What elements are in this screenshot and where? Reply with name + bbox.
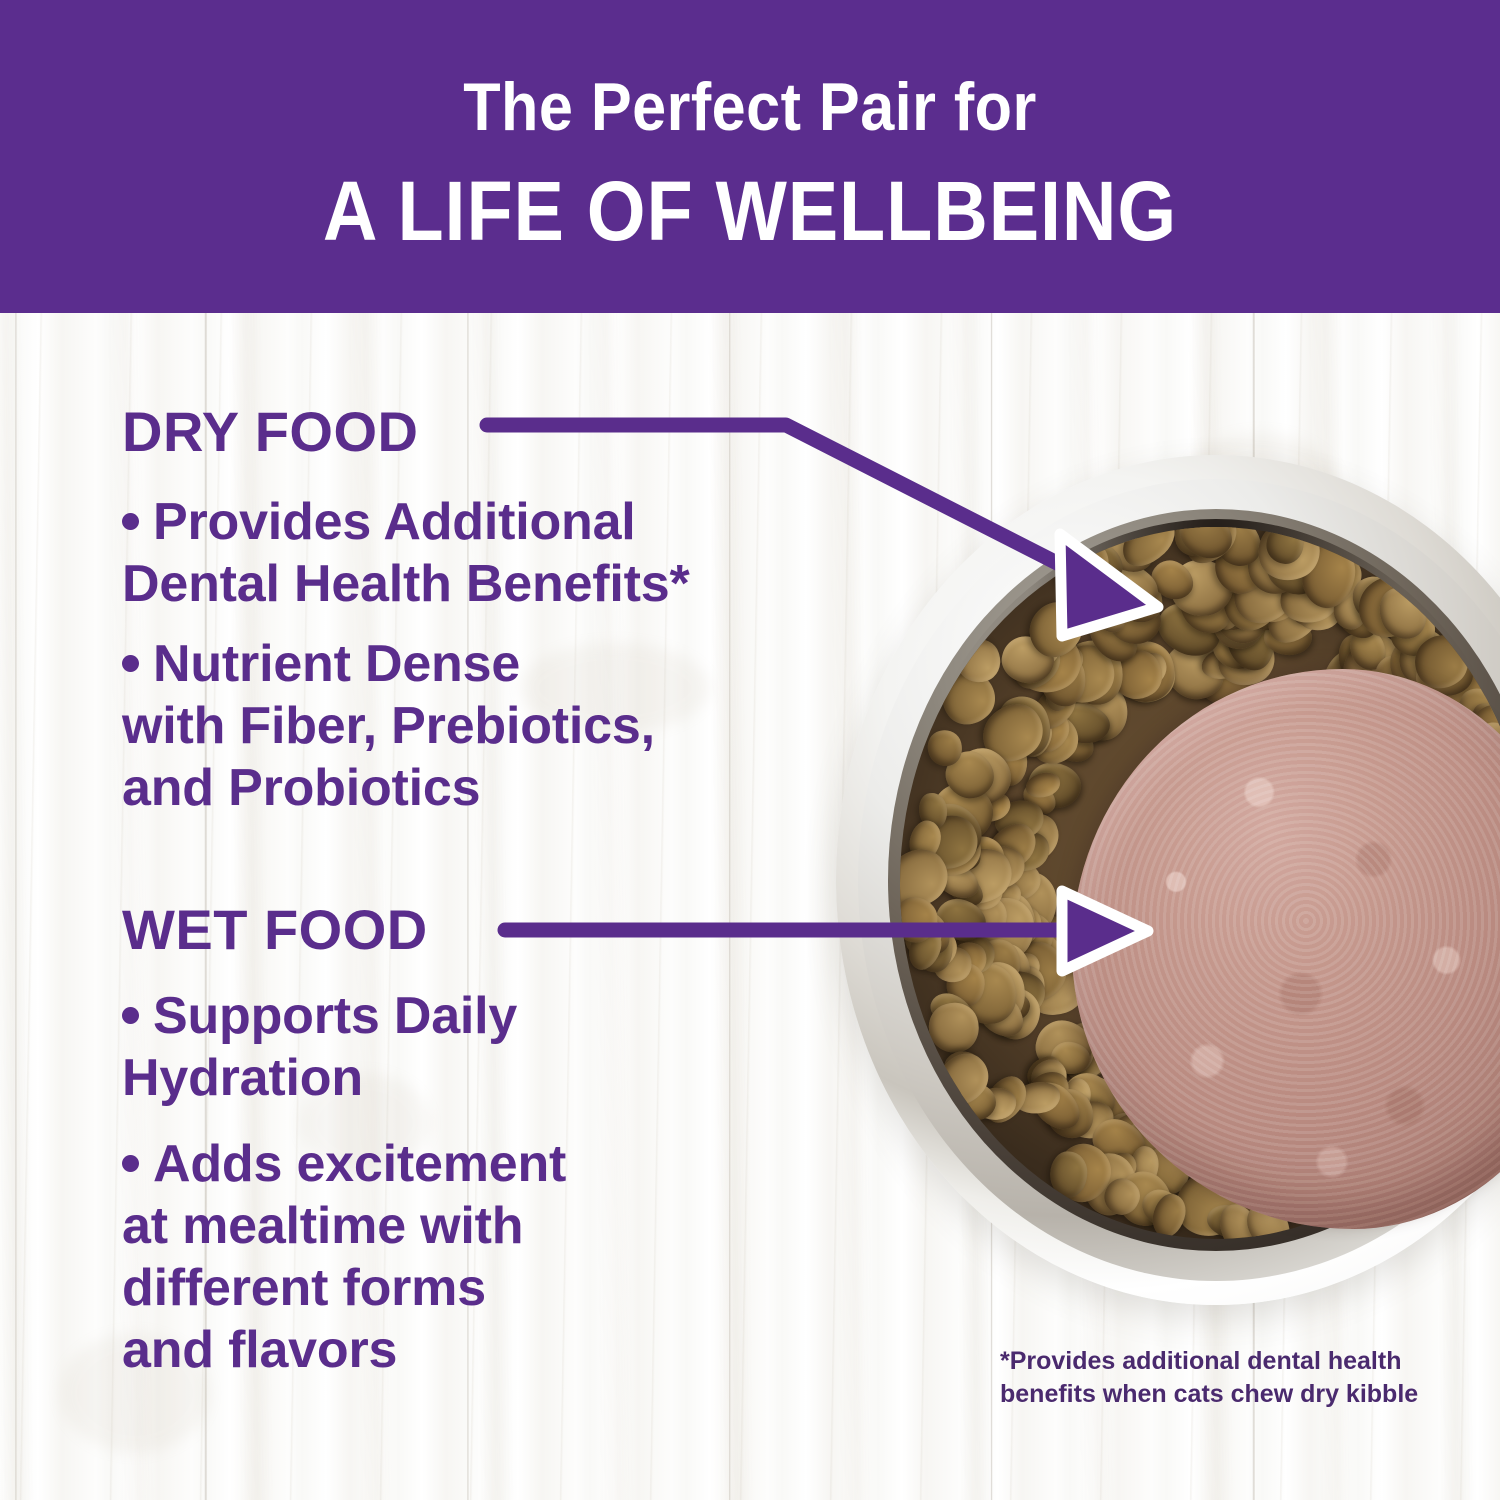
- wet-food-bullet-2: Adds excitement at mealtime with differe…: [122, 1133, 762, 1381]
- dry-food-bullet-2: Nutrient Dense with Fiber, Prebiotics, a…: [122, 633, 822, 819]
- dry-food-heading: DRY FOOD: [122, 399, 418, 464]
- wet-food-bullet-2-line-1: Adds excitement: [153, 1135, 566, 1193]
- wet-food-bullet-1: Supports Daily Hydration: [122, 985, 762, 1109]
- dry-food-bullet-2-line-2: with Fiber, Prebiotics,: [122, 697, 655, 755]
- wet-food-bullet-1-line-2: Hydration: [122, 1049, 363, 1107]
- dry-food-bullet-1-line-1: Provides Additional: [153, 493, 636, 551]
- footnote: *Provides additional dental health benef…: [1000, 1345, 1470, 1411]
- food-bowl-photo: [836, 455, 1500, 1315]
- header-line-1: The Perfect Pair for: [75, 68, 1425, 146]
- bullet-dot-icon: [122, 1007, 139, 1024]
- header-title: A LIFE OF WELLBEING: [75, 163, 1425, 260]
- dry-food-bullet-1-line-2: Dental Health Benefits*: [122, 555, 690, 613]
- bullet-dot-icon: [122, 513, 139, 530]
- dry-food-bullet-2-line-1: Nutrient Dense: [153, 635, 520, 693]
- wet-food-heading: WET FOOD: [122, 897, 428, 962]
- wet-food-bullet-2-line-4: and flavors: [122, 1321, 397, 1379]
- footnote-line-2: benefits when cats chew dry kibble: [1000, 1380, 1418, 1408]
- dry-food-bullet-2-line-3: and Probiotics: [122, 759, 480, 817]
- wet-food-bullet-2-line-2: at mealtime with: [122, 1197, 523, 1255]
- footnote-line-1: *Provides additional dental health: [1000, 1347, 1401, 1375]
- dry-food-bullet-1: Provides Additional Dental Health Benefi…: [122, 491, 822, 615]
- bullet-dot-icon: [122, 1155, 139, 1172]
- wet-food-bullet-1-line-1: Supports Daily: [153, 987, 517, 1045]
- wet-food-bullet-2-line-3: different forms: [122, 1259, 486, 1317]
- header-band: The Perfect Pair for A LIFE OF WELLBEING: [0, 0, 1500, 313]
- bullet-dot-icon: [122, 655, 139, 672]
- copy-column: DRY FOOD Provides Additional Dental Heal…: [0, 313, 830, 1500]
- infographic-canvas: The Perfect Pair for A LIFE OF WELLBEING…: [0, 0, 1500, 1500]
